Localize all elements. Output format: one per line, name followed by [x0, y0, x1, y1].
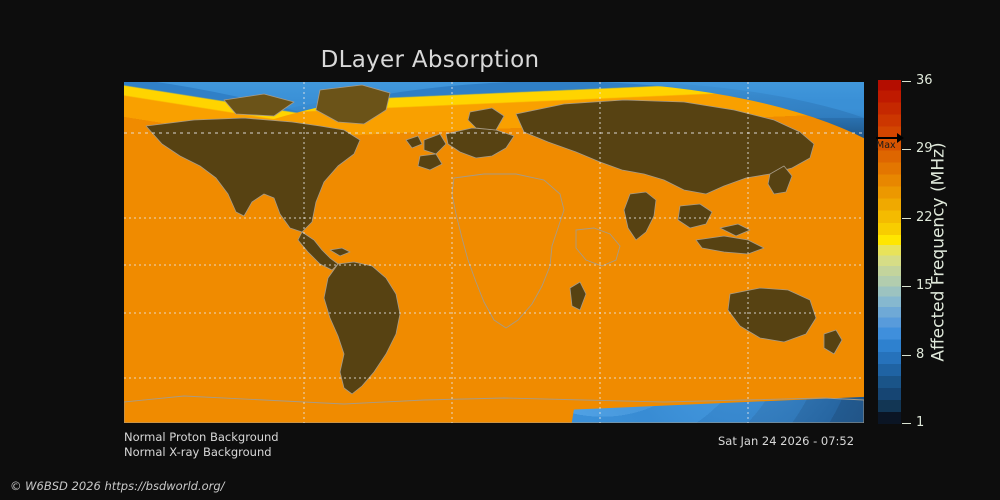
colorbar-tick — [902, 286, 911, 287]
world-map — [124, 82, 864, 423]
colorbar-tick — [902, 218, 911, 219]
colorbar-axis-label-text: Affected Frequency (MHz) — [929, 142, 949, 361]
copyright-credit: © W6BSD 2026 https://bsdworld.org/ — [10, 479, 225, 493]
colorbar-axis-label: Affected Frequency (MHz) — [925, 80, 953, 424]
colorbar-tick-label: 8 — [916, 347, 924, 362]
page-title: DLayer Absorption — [0, 47, 860, 73]
max-marker: Max — [876, 132, 904, 149]
proton-background-status: Normal Proton Background — [124, 430, 279, 444]
timestamp-label: Sat Jan 24 2026 - 07:52 — [718, 434, 854, 448]
dlayer-absorption-screenshot: DLayer Absorption — [0, 0, 1000, 500]
colorbar-tick — [902, 81, 911, 82]
colorbar-tick — [902, 355, 911, 356]
colorbar-tick — [902, 149, 911, 150]
max-marker-label: Max — [876, 140, 896, 151]
colorbar: Max 36 29 22 15 8 1 — [878, 80, 901, 424]
xray-background-status: Normal X-ray Background — [124, 445, 272, 459]
colorbar-tick — [902, 423, 911, 424]
map-gridlines — [124, 82, 864, 423]
colorbar-tick-label: 1 — [916, 415, 924, 430]
